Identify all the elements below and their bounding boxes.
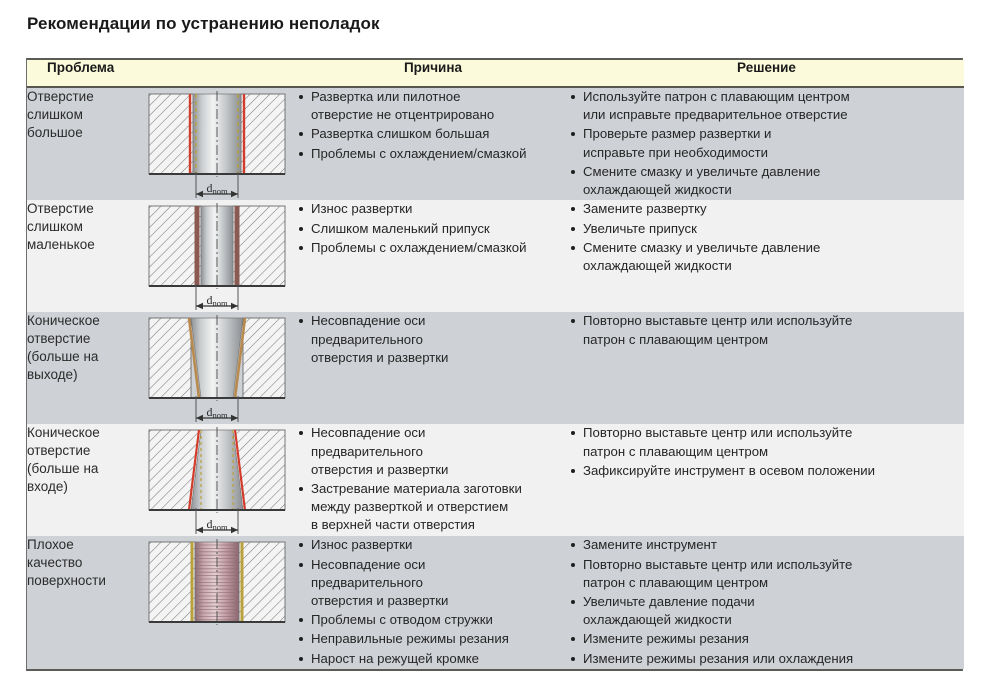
list-item: Несовпадение оси предварительного отверс… xyxy=(297,556,569,611)
table-row: Отверстие слишком маленькое xyxy=(27,200,964,312)
page-title: Рекомендации по устранению неполадок xyxy=(27,14,380,34)
table-header-row: Проблема Причина Решение xyxy=(27,60,964,87)
cause-items: Износ разверткиСлишком маленький припуск… xyxy=(297,200,569,257)
solution-items: Используйте патрон с плавающим центром и… xyxy=(569,88,964,199)
solution-list: Повторно выставьте центр или используйте… xyxy=(569,312,964,424)
list-item: Неправильные режимы резания xyxy=(297,630,569,648)
list-item: Проблемы с охлаждением/смазкой xyxy=(297,145,569,163)
list-item: Развертка или пилотное отверстие не отце… xyxy=(297,88,569,124)
troubleshooting-table: Проблема Причина Решение Отверстие слишк… xyxy=(27,60,964,669)
cause-list: Износ разверткиСлишком маленький припуск… xyxy=(297,200,569,312)
list-item: Застревание материала заготовки между ра… xyxy=(297,480,569,535)
problem-figure: dnom xyxy=(137,424,297,536)
problem-label: Плохое качество поверхности xyxy=(27,536,137,669)
figure-hole-taper-exit: dnom xyxy=(137,312,297,424)
list-item: Слишком маленький припуск xyxy=(297,220,569,238)
cause-items: Несовпадение оси предварительного отверс… xyxy=(297,312,569,367)
solution-items: Замените инструментПовторно выставьте це… xyxy=(569,536,964,668)
list-item: Увеличьте давление подачи охлаждающей жи… xyxy=(569,593,964,629)
list-item: Проверьте размер развертки и исправьте п… xyxy=(569,125,964,161)
problem-label: Коническое отверстие (больше на выходе) xyxy=(27,312,137,424)
cause-list: Несовпадение оси предварительного отверс… xyxy=(297,312,569,424)
list-item: Повторно выставьте центр или используйте… xyxy=(569,556,964,592)
svg-text:dnom: dnom xyxy=(206,181,228,196)
cause-items: Несовпадение оси предварительного отверс… xyxy=(297,424,569,534)
problem-figure: dnom xyxy=(137,200,297,312)
list-item: Нарост на режущей кромке xyxy=(297,650,569,668)
solution-list: Повторно выставьте центр или используйте… xyxy=(569,424,964,536)
table-row: Коническое отверстие (больше на входе) xyxy=(27,424,964,536)
solution-list: Используйте патрон с плавающим центром и… xyxy=(569,87,964,200)
cause-items: Развертка или пилотное отверстие не отце… xyxy=(297,88,569,163)
problem-figure: dnom xyxy=(137,87,297,200)
list-item: Проблемы с отводом стружки xyxy=(297,611,569,629)
troubleshooting-table-wrapper: Проблема Причина Решение Отверстие слишк… xyxy=(26,58,963,671)
cause-list: Износ разверткиНесовпадение оси предвари… xyxy=(297,536,569,669)
list-item: Несовпадение оси предварительного отверс… xyxy=(297,312,569,367)
list-item: Замените инструмент xyxy=(569,536,964,554)
list-item: Увеличьте припуск xyxy=(569,220,964,238)
svg-text:dnom: dnom xyxy=(206,405,228,420)
figure-hole-taper-entry: dnom xyxy=(137,424,297,536)
solution-items: Повторно выставьте центр или используйте… xyxy=(569,312,964,348)
table-body: Отверстие слишком большое xyxy=(27,87,964,669)
problem-figure: dnom xyxy=(137,312,297,424)
list-item: Замените развертку xyxy=(569,200,964,218)
list-item: Используйте патрон с плавающим центром и… xyxy=(569,88,964,124)
table-row: Коническое отверстие (больше на выходе) xyxy=(27,312,964,424)
problem-figure xyxy=(137,536,297,669)
problem-label: Отверстие слишком большое xyxy=(27,87,137,200)
list-item: Развертка слишком большая xyxy=(297,125,569,143)
list-item: Износ развертки xyxy=(297,200,569,218)
column-header-cause: Причина xyxy=(297,60,569,87)
troubleshooting-page: Рекомендации по устранению неполадок Про… xyxy=(0,0,990,697)
solution-items: Замените разверткуУвеличьте припускСмени… xyxy=(569,200,964,275)
list-item: Повторно выставьте центр или используйте… xyxy=(569,424,964,460)
svg-text:dnom: dnom xyxy=(206,293,228,308)
figure-hole-undersize: dnom xyxy=(137,200,297,312)
list-item: Смените смазку и увеличьте давление охла… xyxy=(569,239,964,275)
solution-list: Замените инструментПовторно выставьте це… xyxy=(569,536,964,669)
cause-list: Развертка или пилотное отверстие не отце… xyxy=(297,87,569,200)
table-row: Отверстие слишком большое xyxy=(27,87,964,200)
list-item: Износ развертки xyxy=(297,536,569,554)
list-item: Измените режимы резания или охлаждения xyxy=(569,650,964,668)
problem-label: Отверстие слишком маленькое xyxy=(27,200,137,312)
cause-list: Несовпадение оси предварительного отверс… xyxy=(297,424,569,536)
column-header-solution: Решение xyxy=(569,60,964,87)
list-item: Измените режимы резания xyxy=(569,630,964,648)
list-item: Несовпадение оси предварительного отверс… xyxy=(297,424,569,479)
column-header-problem: Проблема xyxy=(27,60,297,87)
solution-items: Повторно выставьте центр или используйте… xyxy=(569,424,964,480)
problem-label: Коническое отверстие (больше на входе) xyxy=(27,424,137,536)
list-item: Повторно выставьте центр или используйте… xyxy=(569,312,964,348)
solution-list: Замените разверткуУвеличьте припускСмени… xyxy=(569,200,964,312)
figure-hole-rough-surface xyxy=(137,536,297,648)
list-item: Проблемы с охлаждением/смазкой xyxy=(297,239,569,257)
table-row: Плохое качество поверхности Изн xyxy=(27,536,964,669)
cause-items: Износ разверткиНесовпадение оси предвари… xyxy=(297,536,569,668)
list-item: Зафиксируйте инструмент в осевом положен… xyxy=(569,462,964,480)
list-item: Смените смазку и увеличьте давление охла… xyxy=(569,163,964,199)
figure-hole-oversize: dnom xyxy=(137,88,297,200)
svg-text:dnom: dnom xyxy=(206,517,228,532)
